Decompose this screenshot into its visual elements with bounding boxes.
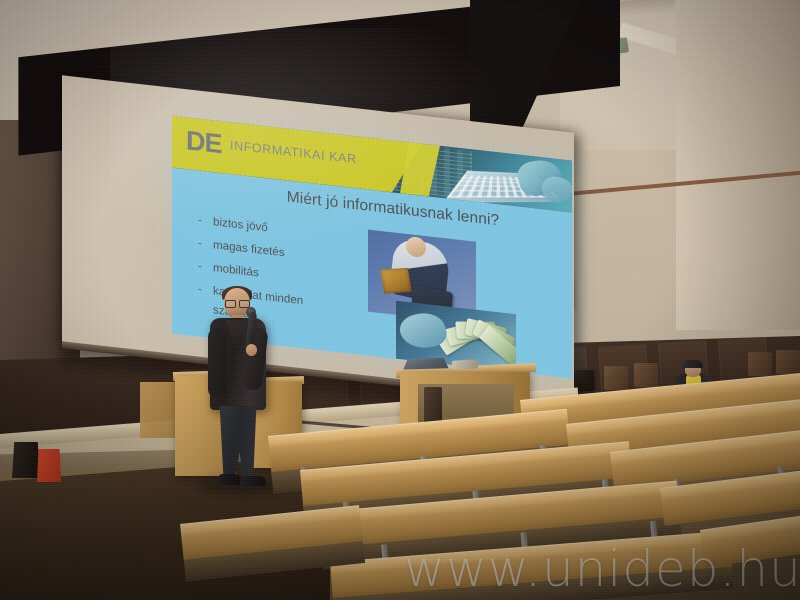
laptop-on-desk (403, 358, 448, 370)
back-chair (604, 366, 628, 390)
presenter (206, 288, 270, 490)
presenter-shoe (218, 474, 242, 485)
right-wall-pilaster (676, 0, 800, 330)
red-waste-bin (37, 449, 61, 482)
lecture-hall-photo: DE INFORMATIKAI KAR Miért jó informatiku… (0, 0, 800, 600)
presenter-trousers (218, 406, 258, 480)
presenter-left-arm (208, 328, 226, 398)
site-watermark: www.unideb.hu (404, 540, 800, 598)
glasses-icon (225, 300, 249, 306)
desk-papers (452, 359, 478, 369)
presenter-hand (246, 344, 257, 356)
back-chair (634, 363, 658, 387)
seated-cap (683, 360, 703, 368)
black-waste-bin (12, 442, 40, 478)
back-chair (748, 352, 772, 376)
logo-de: DE (186, 125, 222, 160)
presenter-shoe (240, 476, 266, 486)
back-chair (776, 350, 800, 374)
